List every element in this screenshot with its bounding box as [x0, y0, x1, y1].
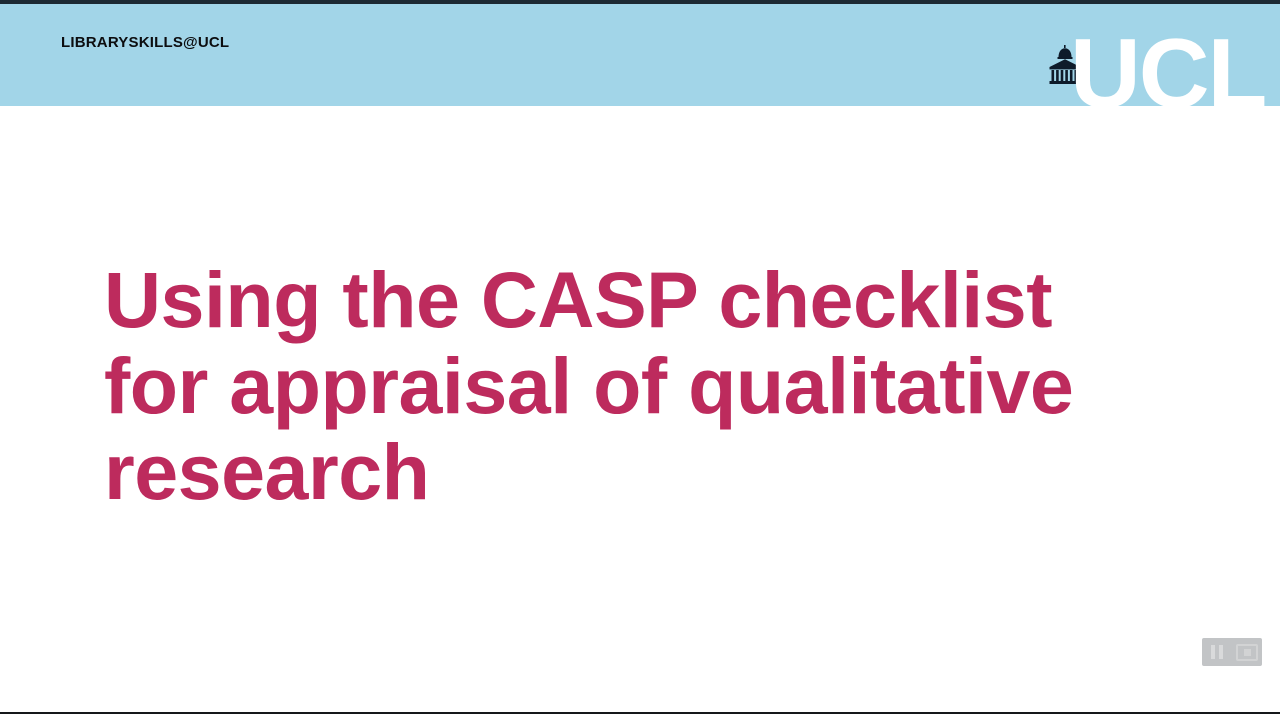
ucl-wordmark: UCL [1070, 24, 1265, 106]
video-player-frame[interactable]: LIBRARYSKILLS@UCL UCL [0, 0, 1280, 720]
brand-text: LIBRARYSKILLS@UCL [61, 34, 229, 51]
captions-button[interactable] [1236, 643, 1258, 661]
slide-title: Using the CASP checklist for appraisal o… [104, 257, 1164, 515]
player-control-bar[interactable] [1202, 638, 1262, 666]
slide-header-band: LIBRARYSKILLS@UCL UCL [0, 4, 1280, 106]
pause-button[interactable] [1206, 643, 1228, 661]
closed-captions-icon [1236, 644, 1258, 661]
slide-content-area: Using the CASP checklist for appraisal o… [0, 106, 1280, 712]
frame-bottom-edge [0, 712, 1280, 714]
ucl-logo: UCL [1040, 30, 1280, 106]
pause-icon [1211, 645, 1223, 659]
